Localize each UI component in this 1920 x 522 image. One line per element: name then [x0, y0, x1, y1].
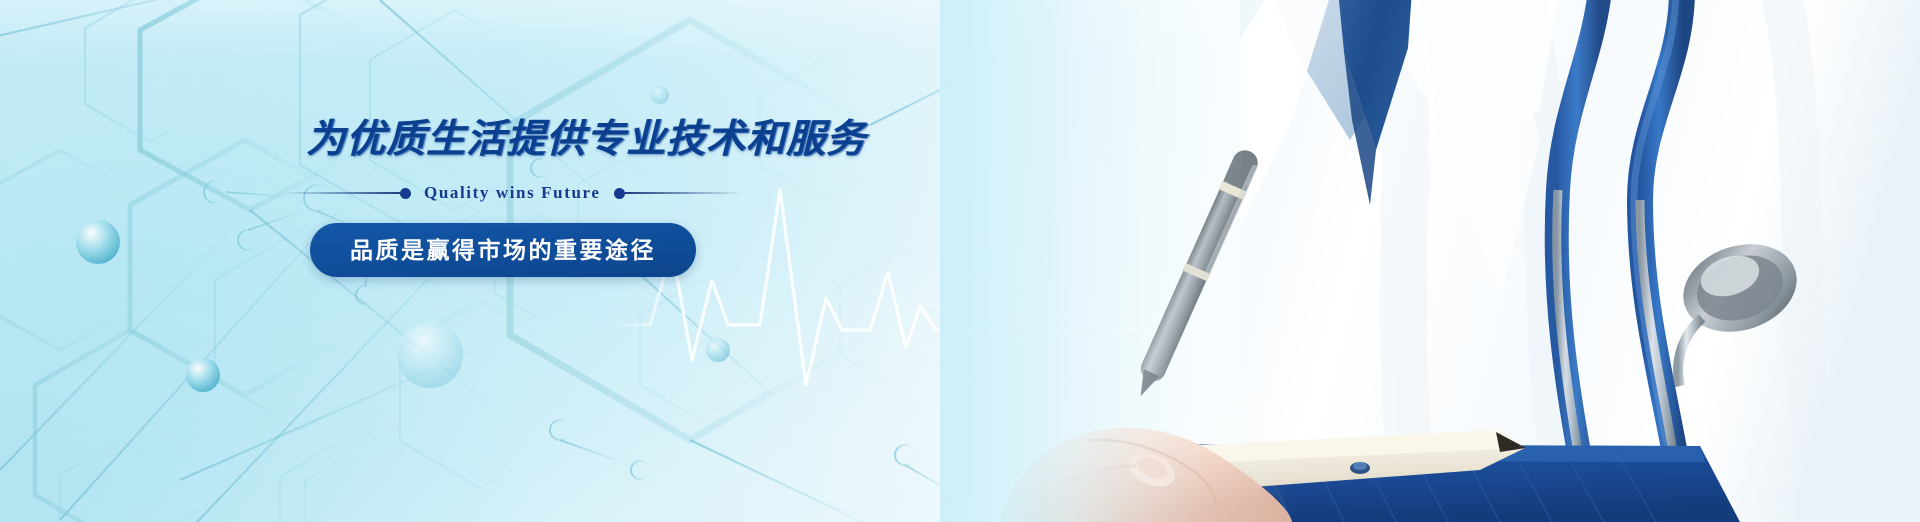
- hero-banner: 为优质生活提供专业技术和服务 Quality wins Future 品质是赢得…: [0, 0, 1920, 522]
- bullet-dot-icon-left: [400, 188, 411, 199]
- tagline-english: Quality wins Future: [411, 183, 614, 203]
- divider-line-left: [282, 192, 400, 194]
- bullet-dot-icon-right: [614, 188, 625, 199]
- slogan-pill-button[interactable]: 品质是赢得市场的重要途径: [310, 223, 696, 277]
- banner-content: 为优质生活提供专业技术和服务 Quality wins Future 品质是赢得…: [306, 120, 946, 277]
- slogan-pill-label: 品质是赢得市场的重要途径: [350, 239, 656, 262]
- page-title: 为优质生活提供专业技术和服务: [306, 120, 946, 159]
- photo-left-fade: [940, 0, 1920, 522]
- divider-line-right: [625, 192, 743, 194]
- molecule-sphere: [76, 220, 120, 264]
- tagline-divider-row: Quality wins Future: [282, 183, 962, 203]
